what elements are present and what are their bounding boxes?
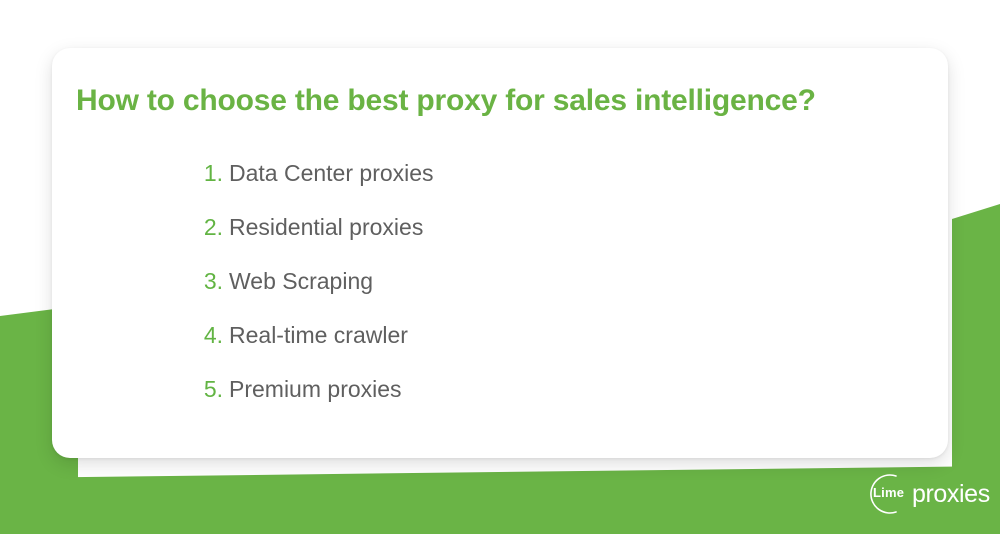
list-item-number: 5. xyxy=(197,376,223,403)
list-item-label: Data Center proxies xyxy=(229,160,434,187)
list-item-number: 1. xyxy=(197,160,223,187)
list-item-number: 4. xyxy=(197,322,223,349)
list-item: 1. Data Center proxies xyxy=(197,160,434,214)
logo-wordmark: proxies xyxy=(912,482,990,507)
list-item-number: 3. xyxy=(197,268,223,295)
list-item-label: Real-time crawler xyxy=(229,322,408,349)
logo-mark: Lime xyxy=(862,471,910,517)
logo-lime-text: Lime xyxy=(873,483,913,503)
list-item: 5. Premium proxies xyxy=(197,376,434,430)
content-card: How to choose the best proxy for sales i… xyxy=(52,48,948,458)
list-item-label: Premium proxies xyxy=(229,376,402,403)
bottom-green-band xyxy=(0,466,1000,534)
list-item: 3. Web Scraping xyxy=(197,268,434,322)
list-item: 4. Real-time crawler xyxy=(197,322,434,376)
page-title: How to choose the best proxy for sales i… xyxy=(76,84,816,118)
slide-canvas: How to choose the best proxy for sales i… xyxy=(0,0,1000,534)
brand-logo: Lime proxies xyxy=(862,471,992,517)
list-item: 2. Residential proxies xyxy=(197,214,434,268)
numbered-list: 1. Data Center proxies 2. Residential pr… xyxy=(197,160,434,430)
list-item-label: Residential proxies xyxy=(229,214,423,241)
list-item-label: Web Scraping xyxy=(229,268,373,295)
list-item-number: 2. xyxy=(197,214,223,241)
